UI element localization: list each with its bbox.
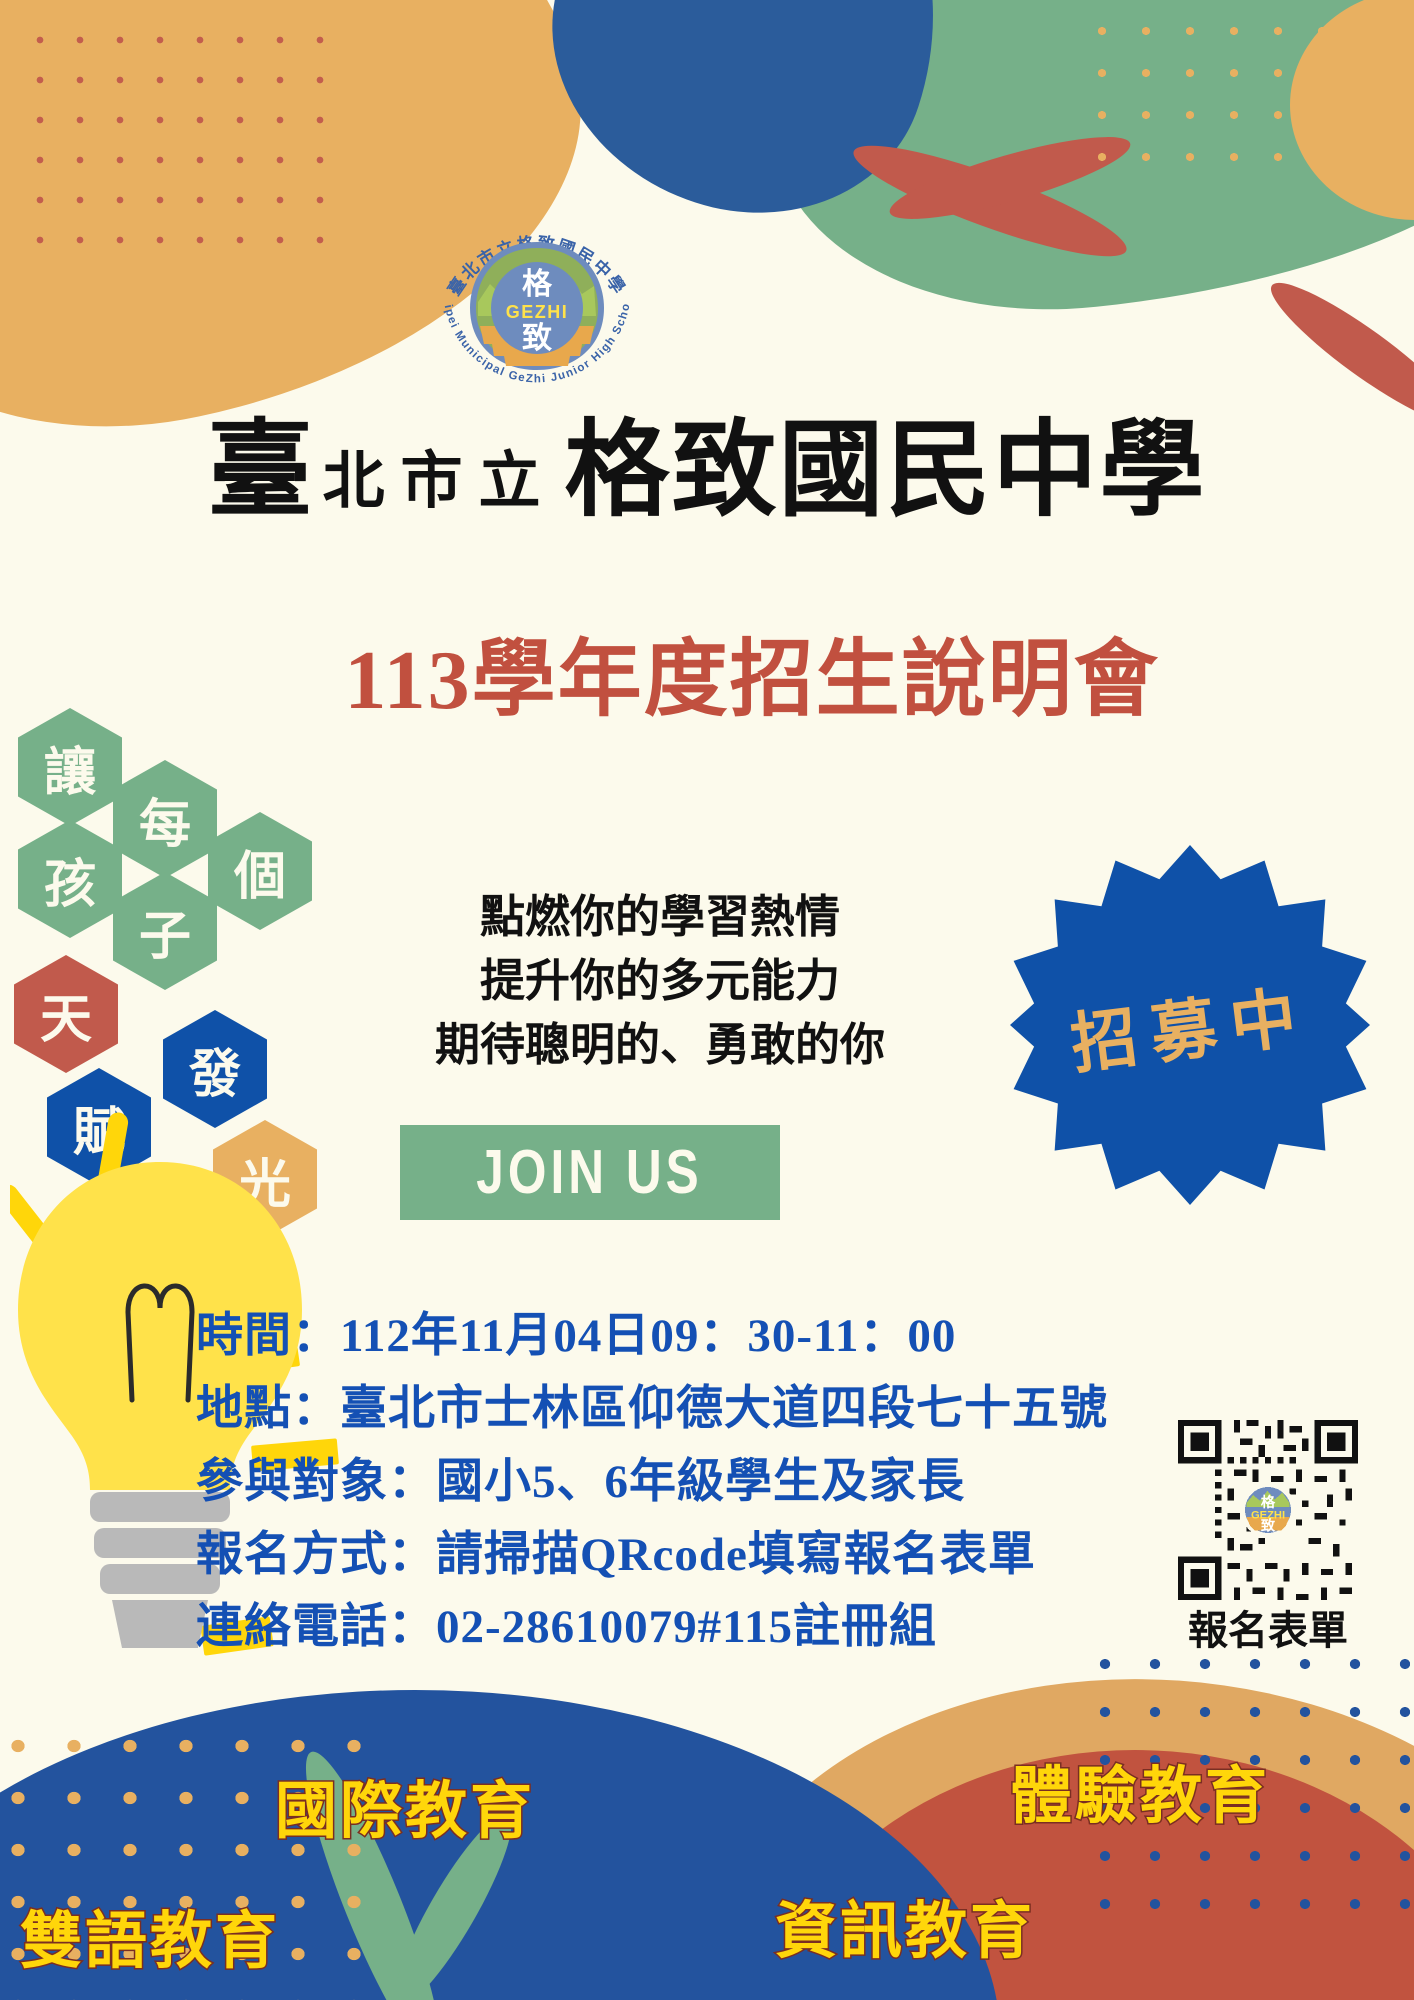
hexagon-char-3: 孩 [44,842,96,917]
slogan-line-1: 點燃你的學習熱情 [380,885,940,949]
join-us-label: JOIN US [477,1137,703,1208]
join-us-button[interactable]: JOIN US [400,1125,780,1220]
hexagon-tile-5: 天 [14,955,118,1073]
hexagon-char-4: 子 [139,894,191,969]
page-title: 臺 北市立 格致 國民中學 [0,418,1414,523]
hexagon-tile-4: 子 [113,872,217,990]
info-location-text: 地點：臺北市士林區仰德大道四段七十五號 [196,1383,1108,1435]
info-phone-text: 連絡電話：02-28610079#115註冊組 [196,1601,937,1653]
svg-text:GEZHI: GEZHI [506,302,569,322]
title-part-4: 國民中學 [779,418,1207,523]
hexagon-tile-2: 個 [208,812,312,930]
hexagon-char-1: 每 [139,782,191,857]
info-signup-text: 報名方式：請掃描QRcode填寫報名表單 [196,1529,1036,1581]
info-row-phone: 連絡電話：02-28610079#115註冊組 [196,1591,1156,1664]
title-part-3: 格致 [565,418,779,523]
education-tag-1: 體驗教育 [1010,1745,1270,1835]
education-tag-3: 資訊教育 [775,1880,1035,1970]
slogan-block: 點燃你的學習熱情 提升你的多元能力 期待聰明的、勇敢的你 [380,885,940,1077]
hexagon-char-0: 讓 [44,730,96,805]
recruiting-badge-label: 招募中 [989,824,1390,1225]
hexagon-tile-1: 每 [113,760,217,878]
slogan-line-2: 提升你的多元能力 [380,949,940,1013]
title-part-1: 臺 [207,418,314,523]
recruiting-star-badge: 招募中 [1010,845,1370,1205]
info-time-text: 時間：112年11月04日09：30-11：00 [196,1310,956,1362]
info-row-signup: 報名方式：請掃描QRcode填寫報名表單 [196,1519,1156,1592]
event-subtitle: 113學年度招生說明會 [0,612,1414,733]
info-row-audience: 參與對象：國小5、6年級學生及家長 [196,1446,1156,1519]
info-row-location: 地點：臺北市士林區仰德大道四段七十五號 [196,1373,1156,1446]
svg-text:格: 格 [522,268,553,301]
education-tag-2: 雙語教育 [20,1890,280,1980]
slogan-line-3: 期待聰明的、勇敢的你 [380,1013,940,1077]
svg-text:致: 致 [522,322,552,355]
hexagon-char-5: 天 [40,977,92,1052]
info-audience-text: 參與對象：國小5、6年級學生及家長 [196,1456,965,1508]
decor-dots-top-left [20,20,350,270]
school-logo: 臺北市立格致國民中學 Taipei Municipal GeZhi Junior… [432,198,642,398]
poster-canvas: 臺北市立格致國民中學 Taipei Municipal GeZhi Junior… [0,0,1414,2000]
svg-text:致: 致 [1261,1516,1276,1534]
info-row-time: 時間：112年11月04日09：30-11：00 [196,1300,1156,1373]
event-info-list: 時間：112年11月04日09：30-11：00 地點：臺北市士林區仰德大道四段… [196,1300,1156,1664]
decor-dots-top-right [1080,10,1380,180]
decor-leaf-red-3 [1258,267,1414,439]
hexagon-char-2: 個 [234,834,286,909]
hexagon-tile-3: 孩 [18,820,122,938]
title-part-2: 北市立 [314,451,564,523]
education-tag-0: 國際教育 [275,1760,535,1850]
hexagon-char-7: 發 [189,1032,241,1107]
svg-text:格: 格 [1261,1493,1276,1511]
